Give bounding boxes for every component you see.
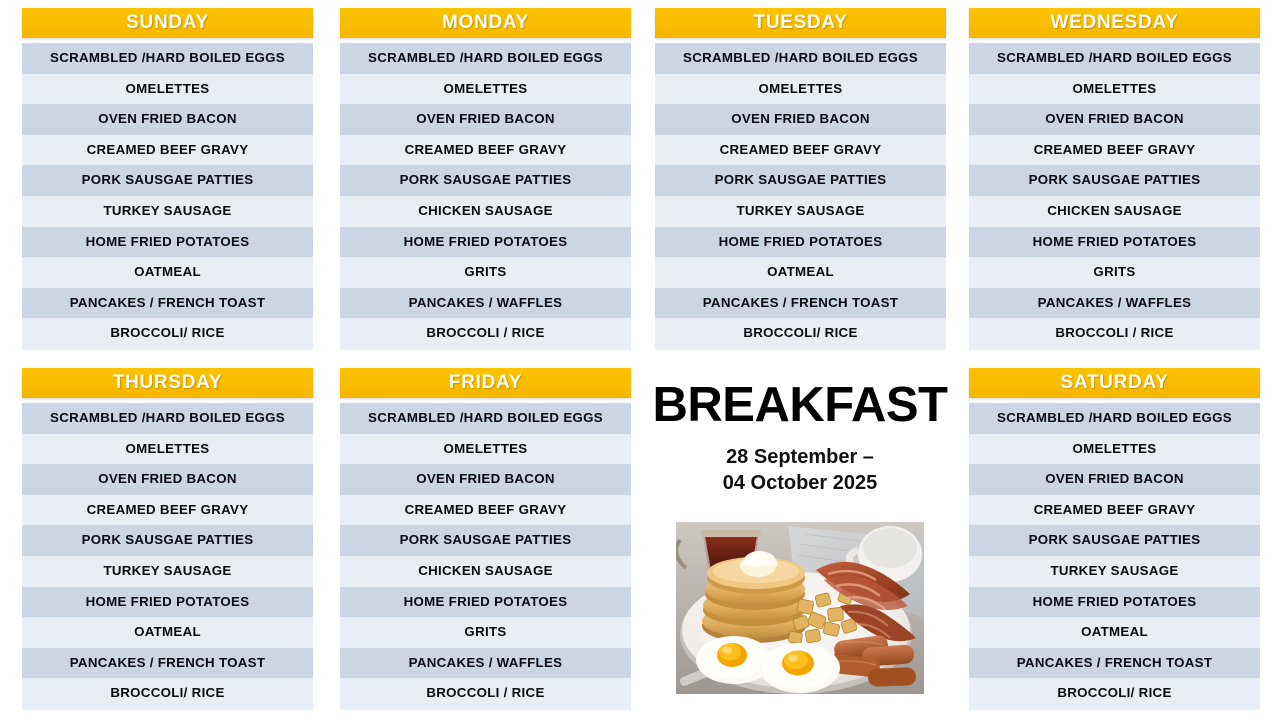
menu-item: OMELETTES: [340, 74, 631, 105]
date-range-line-1: 28 September –: [640, 445, 960, 471]
menu-item: TURKEY SAUSAGE: [22, 556, 313, 587]
item-list-thursday: SCRAMBLED /HARD BOILED EGGS OMELETTES OV…: [22, 403, 313, 710]
menu-item: TURKEY SAUSAGE: [655, 196, 946, 227]
menu-item: CHICKEN SAUSAGE: [340, 196, 631, 227]
menu-item: CHICKEN SAUSAGE: [969, 196, 1260, 227]
menu-item: CREAMED BEEF GRAVY: [969, 495, 1260, 526]
menu-item: SCRAMBLED /HARD BOILED EGGS: [969, 43, 1260, 74]
menu-item: PANCAKES / FRENCH TOAST: [655, 288, 946, 319]
menu-item: OMELETTES: [969, 434, 1260, 465]
day-header-thursday: THURSDAY: [22, 368, 313, 398]
page-title: BREAKFAST: [640, 380, 960, 431]
day-column-friday: FRIDAY SCRAMBLED /HARD BOILED EGGS OMELE…: [340, 368, 631, 710]
menu-item: SCRAMBLED /HARD BOILED EGGS: [22, 403, 313, 434]
menu-item: OATMEAL: [969, 617, 1260, 648]
menu-item: SCRAMBLED /HARD BOILED EGGS: [22, 43, 313, 74]
menu-item: OVEN FRIED BACON: [969, 104, 1260, 135]
menu-item: OMELETTES: [22, 434, 313, 465]
menu-item: GRITS: [969, 257, 1260, 288]
menu-item: PORK SAUSGAE PATTIES: [969, 165, 1260, 196]
menu-item: PANCAKES / WAFFLES: [340, 288, 631, 319]
menu-item: CREAMED BEEF GRAVY: [22, 495, 313, 526]
menu-item: CREAMED BEEF GRAVY: [655, 135, 946, 166]
menu-item: OATMEAL: [655, 257, 946, 288]
menu-item: HOME FRIED POTATOES: [340, 227, 631, 258]
menu-item: BROCCOLI/ RICE: [22, 678, 313, 709]
menu-item: PANCAKES / FRENCH TOAST: [22, 648, 313, 679]
menu-item: OVEN FRIED BACON: [655, 104, 946, 135]
menu-item: CREAMED BEEF GRAVY: [22, 135, 313, 166]
menu-item: PANCAKES / FRENCH TOAST: [969, 648, 1260, 679]
menu-item: OVEN FRIED BACON: [22, 104, 313, 135]
menu-item: HOME FRIED POTATOES: [340, 587, 631, 618]
menu-item: BROCCOLI/ RICE: [969, 678, 1260, 709]
menu-item: TURKEY SAUSAGE: [22, 196, 313, 227]
date-range-line-2: 04 October 2025: [640, 471, 960, 497]
menu-item: PORK SAUSGAE PATTIES: [22, 525, 313, 556]
day-header-friday: FRIDAY: [340, 368, 631, 398]
menu-item: BROCCOLI/ RICE: [22, 318, 313, 349]
menu-item: OATMEAL: [22, 257, 313, 288]
menu-item: TURKEY SAUSAGE: [969, 556, 1260, 587]
menu-item: PANCAKES / WAFFLES: [969, 288, 1260, 319]
menu-item: HOME FRIED POTATOES: [969, 587, 1260, 618]
menu-item: CREAMED BEEF GRAVY: [340, 135, 631, 166]
menu-item: OVEN FRIED BACON: [969, 464, 1260, 495]
menu-item: BROCCOLI / RICE: [969, 318, 1260, 349]
day-column-tuesday: TUESDAY SCRAMBLED /HARD BOILED EGGS OMEL…: [655, 8, 946, 350]
day-header-wednesday: WEDNESDAY: [969, 8, 1260, 38]
day-header-sunday: SUNDAY: [22, 8, 313, 38]
item-list-monday: SCRAMBLED /HARD BOILED EGGS OMELETTES OV…: [340, 43, 631, 350]
day-column-thursday: THURSDAY SCRAMBLED /HARD BOILED EGGS OME…: [22, 368, 313, 710]
menu-item: SCRAMBLED /HARD BOILED EGGS: [655, 43, 946, 74]
menu-item: PORK SAUSGAE PATTIES: [340, 165, 631, 196]
menu-item: SCRAMBLED /HARD BOILED EGGS: [969, 403, 1260, 434]
menu-item: OMELETTES: [655, 74, 946, 105]
day-column-sunday: SUNDAY SCRAMBLED /HARD BOILED EGGS OMELE…: [22, 8, 313, 350]
menu-item: SCRAMBLED /HARD BOILED EGGS: [340, 403, 631, 434]
menu-item: OMELETTES: [22, 74, 313, 105]
menu-item: CHICKEN SAUSAGE: [340, 556, 631, 587]
menu-item: OMELETTES: [969, 74, 1260, 105]
menu-item: PORK SAUSGAE PATTIES: [22, 165, 313, 196]
menu-item: OVEN FRIED BACON: [340, 464, 631, 495]
item-list-wednesday: SCRAMBLED /HARD BOILED EGGS OMELETTES OV…: [969, 43, 1260, 350]
breakfast-menu-board: SUNDAY SCRAMBLED /HARD BOILED EGGS OMELE…: [0, 0, 1280, 720]
menu-item: PORK SAUSGAE PATTIES: [969, 525, 1260, 556]
breakfast-plate-photo: [676, 522, 924, 694]
menu-item: GRITS: [340, 617, 631, 648]
menu-item: OMELETTES: [340, 434, 631, 465]
menu-item: OATMEAL: [22, 617, 313, 648]
menu-item: HOME FRIED POTATOES: [22, 227, 313, 258]
day-header-saturday: SATURDAY: [969, 368, 1260, 398]
day-column-monday: MONDAY SCRAMBLED /HARD BOILED EGGS OMELE…: [340, 8, 631, 350]
day-header-tuesday: TUESDAY: [655, 8, 946, 38]
item-list-friday: SCRAMBLED /HARD BOILED EGGS OMELETTES OV…: [340, 403, 631, 710]
item-list-saturday: SCRAMBLED /HARD BOILED EGGS OMELETTES OV…: [969, 403, 1260, 710]
menu-item: HOME FRIED POTATOES: [969, 227, 1260, 258]
day-column-wednesday: WEDNESDAY SCRAMBLED /HARD BOILED EGGS OM…: [969, 8, 1260, 350]
item-list-tuesday: SCRAMBLED /HARD BOILED EGGS OMELETTES OV…: [655, 43, 946, 350]
menu-item: PANCAKES / WAFFLES: [340, 648, 631, 679]
menu-item: HOME FRIED POTATOES: [655, 227, 946, 258]
menu-item: SCRAMBLED /HARD BOILED EGGS: [340, 43, 631, 74]
menu-item: OVEN FRIED BACON: [22, 464, 313, 495]
item-list-sunday: SCRAMBLED /HARD BOILED EGGS OMELETTES OV…: [22, 43, 313, 350]
date-range: 28 September – 04 October 2025: [640, 445, 960, 496]
menu-item: BROCCOLI / RICE: [340, 678, 631, 709]
menu-item: CREAMED BEEF GRAVY: [340, 495, 631, 526]
menu-item: PORK SAUSGAE PATTIES: [340, 525, 631, 556]
menu-item: CREAMED BEEF GRAVY: [969, 135, 1260, 166]
menu-title-block: BREAKFAST 28 September – 04 October 2025: [640, 380, 960, 497]
menu-item: OVEN FRIED BACON: [340, 104, 631, 135]
menu-item: BROCCOLI/ RICE: [655, 318, 946, 349]
menu-item: HOME FRIED POTATOES: [22, 587, 313, 618]
menu-item: PORK SAUSGAE PATTIES: [655, 165, 946, 196]
menu-item: PANCAKES / FRENCH TOAST: [22, 288, 313, 319]
day-header-monday: MONDAY: [340, 8, 631, 38]
day-column-saturday: SATURDAY SCRAMBLED /HARD BOILED EGGS OME…: [969, 368, 1260, 710]
menu-item: GRITS: [340, 257, 631, 288]
menu-item: BROCCOLI / RICE: [340, 318, 631, 349]
